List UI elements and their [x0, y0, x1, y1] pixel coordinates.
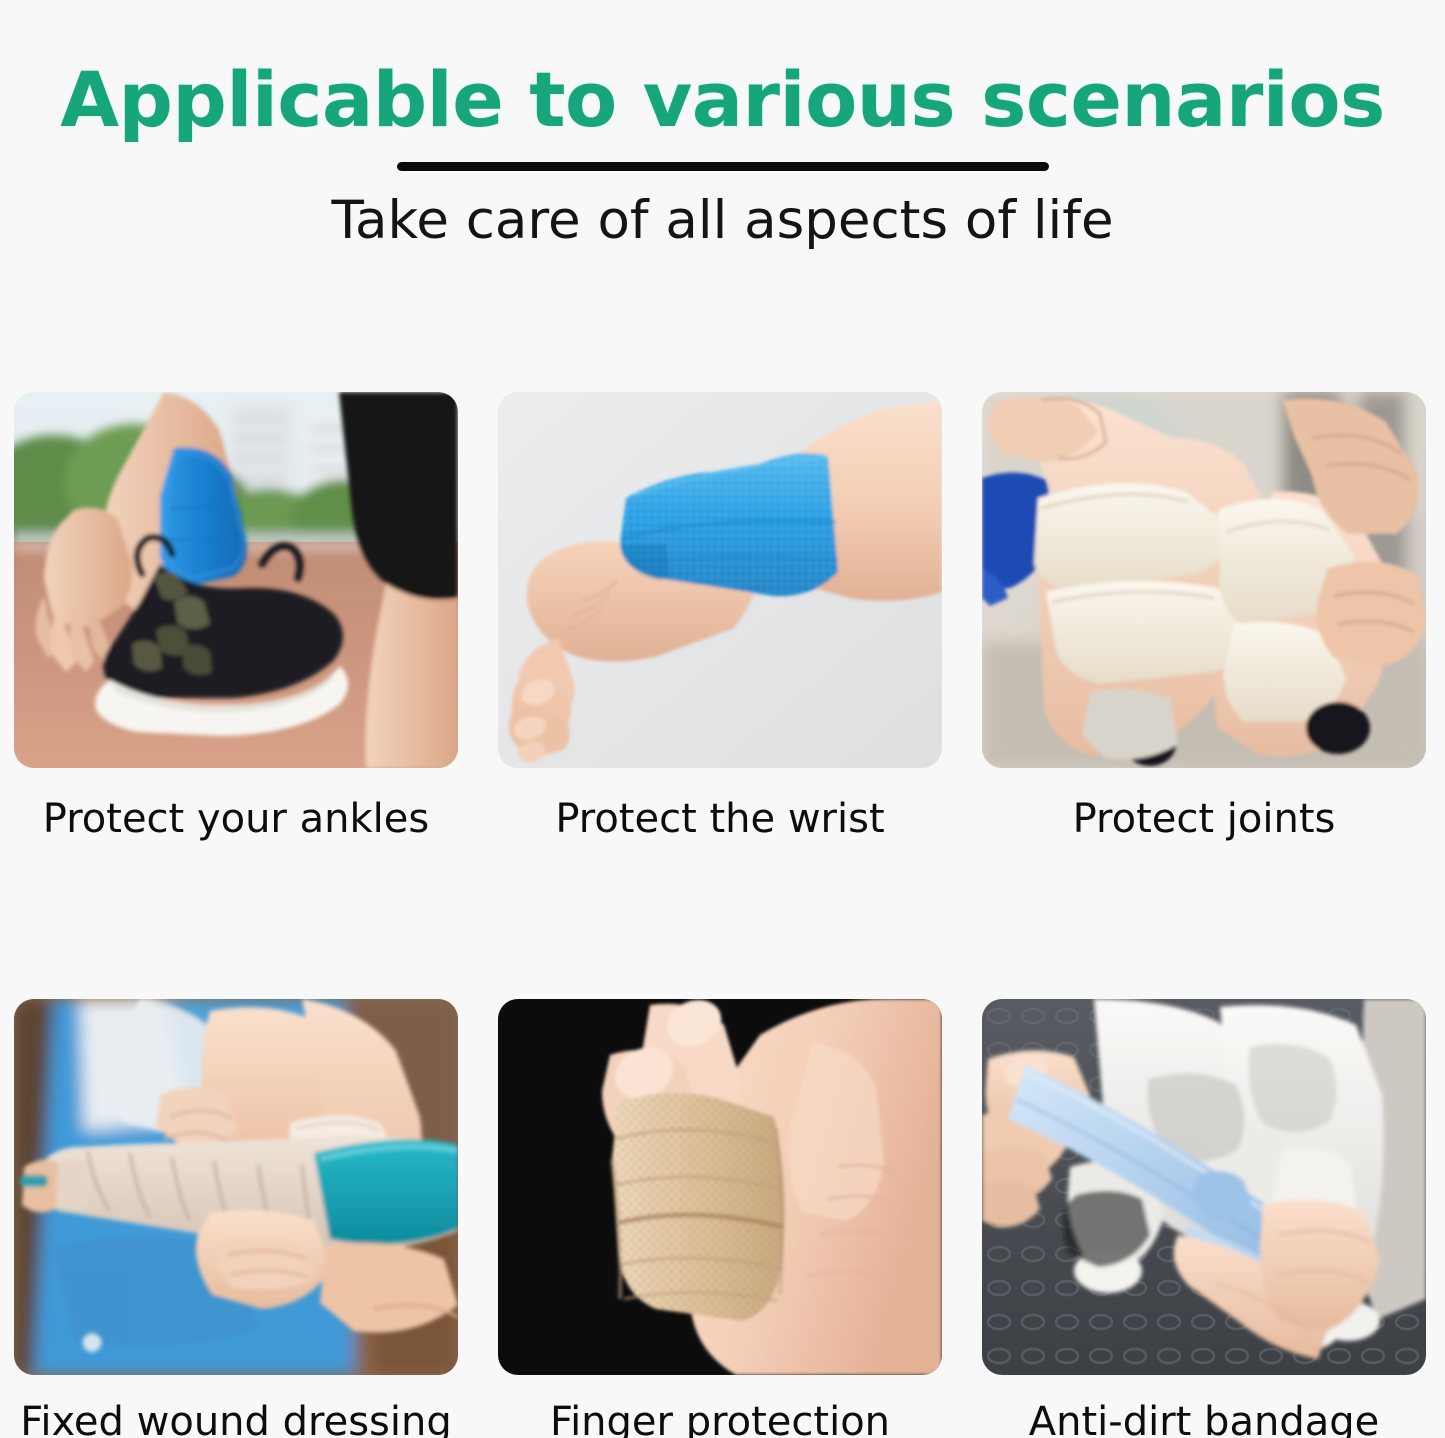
runner-ankle-blue-bandage-photo [14, 392, 458, 768]
scenario-caption: Protect joints [982, 794, 1426, 845]
scenario-caption: Protect your ankles [14, 794, 458, 845]
scenarios-infographic: Applicable to various scenarios Take car… [0, 0, 1445, 1438]
forearm-dressing-splint-photo [14, 999, 458, 1375]
scenario-caption: Anti-dirt bandage for pets [982, 1397, 1426, 1438]
scenario-grid: Protect your ankles [14, 392, 1426, 1438]
page-subtitle: Take care of all aspects of life [0, 193, 1445, 249]
scenario-caption: Finger protection [498, 1397, 942, 1438]
scenario-row-2: Fixed wound dressing [14, 999, 1426, 1438]
scenario-row-1: Protect your ankles [14, 392, 1426, 845]
title-divider [397, 162, 1049, 171]
scenario-card-wound-dressing: Fixed wound dressing [14, 999, 458, 1438]
scenario-card-joints: Protect joints [982, 392, 1426, 845]
scenario-card-finger: Finger protection [498, 999, 942, 1438]
scenario-card-pets: Anti-dirt bandage for pets [982, 999, 1426, 1438]
finger-tan-bandage-photo [498, 999, 942, 1375]
scenario-caption: Protect the wrist [498, 794, 942, 845]
scenario-card-ankle: Protect your ankles [14, 392, 458, 845]
scenario-caption: Fixed wound dressing [14, 1397, 458, 1438]
wrist-blue-bandage-photo [498, 392, 942, 768]
page-title: Applicable to various scenarios [0, 62, 1445, 138]
scenario-card-wrist: Protect the wrist [498, 392, 942, 845]
title-divider-wrap [0, 162, 1445, 171]
header: Applicable to various scenarios Take car… [0, 0, 1445, 249]
dog-leg-blue-bandage-photo [982, 999, 1426, 1375]
knee-wrap-beige-bandage-photo [982, 392, 1426, 768]
